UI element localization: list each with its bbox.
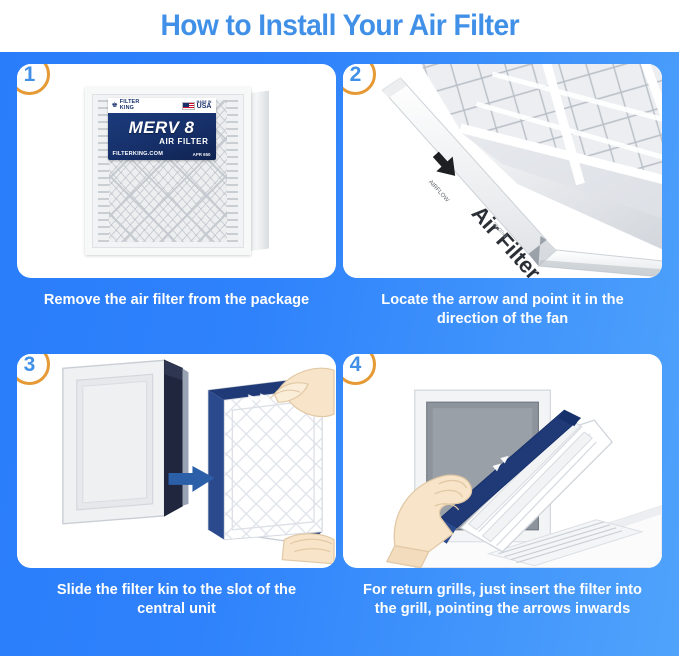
merv-rating-block: MERV 8 AIR FILTER	[113, 119, 211, 146]
step-4-caption: For return grills, just insert the filte…	[343, 581, 662, 620]
header-band: How to Install Your Air Filter	[0, 0, 679, 52]
inserting-filter-into-ceiling-return-grill-illustration	[343, 354, 662, 568]
sliding-filter-into-central-unit-illustration	[17, 354, 336, 568]
how-to-install-air-filter-infographic: How to Install Your Air Filter 1	[0, 0, 679, 656]
air-filter-product-photo: ♚ FILTER KING	[17, 64, 336, 278]
step-3-svg	[17, 354, 336, 568]
steps-grid: 1	[0, 52, 679, 656]
step-1-caption: Remove the air filter from the package	[17, 291, 336, 310]
central-unit-body	[63, 360, 189, 523]
steps-background: 1	[0, 52, 679, 656]
apr-rating: APR 650	[193, 152, 211, 157]
step-3: 3	[17, 354, 336, 644]
product-type: AIR FILTER	[113, 137, 211, 146]
filter-front-face: ♚ FILTER KING	[85, 87, 251, 255]
step-4-svg	[343, 354, 662, 568]
step-3-caption: Slide the filter kin to the slot of the …	[17, 581, 336, 620]
brand-line-2: KING	[120, 105, 134, 111]
country-text: USA	[197, 103, 212, 110]
step-1-card: 1	[17, 64, 336, 278]
step-2-card: 2	[343, 64, 662, 278]
filter-product-label: ♚ FILTER KING	[108, 98, 216, 160]
filter-king-logo: ♚ FILTER KING	[112, 100, 140, 111]
step-2: 2	[343, 64, 662, 354]
step-3-card: 3	[17, 354, 336, 568]
filter-corner-svg: AIRFLOW Air Filter 20x20x1	[343, 64, 662, 278]
filter-right-ribs	[227, 100, 238, 242]
step-1: 1	[17, 64, 336, 354]
crown-icon: ♚	[112, 102, 118, 109]
brand-website: FILTERKING.COM	[113, 151, 164, 157]
step-4: 4	[343, 354, 662, 644]
page-title: How to Install Your Air Filter	[160, 11, 519, 41]
merv-rating: MERV 8	[113, 119, 211, 136]
us-flag-icon	[182, 102, 195, 110]
step-4-card: 4	[343, 354, 662, 568]
made-in-usa-mark: MADE IN USA	[182, 101, 212, 111]
filter-corner-with-airflow-arrow: AIRFLOW Air Filter 20x20x1	[343, 64, 662, 278]
hand-bottom	[282, 534, 334, 564]
step-2-caption: Locate the arrow and point it in the dir…	[343, 291, 662, 330]
